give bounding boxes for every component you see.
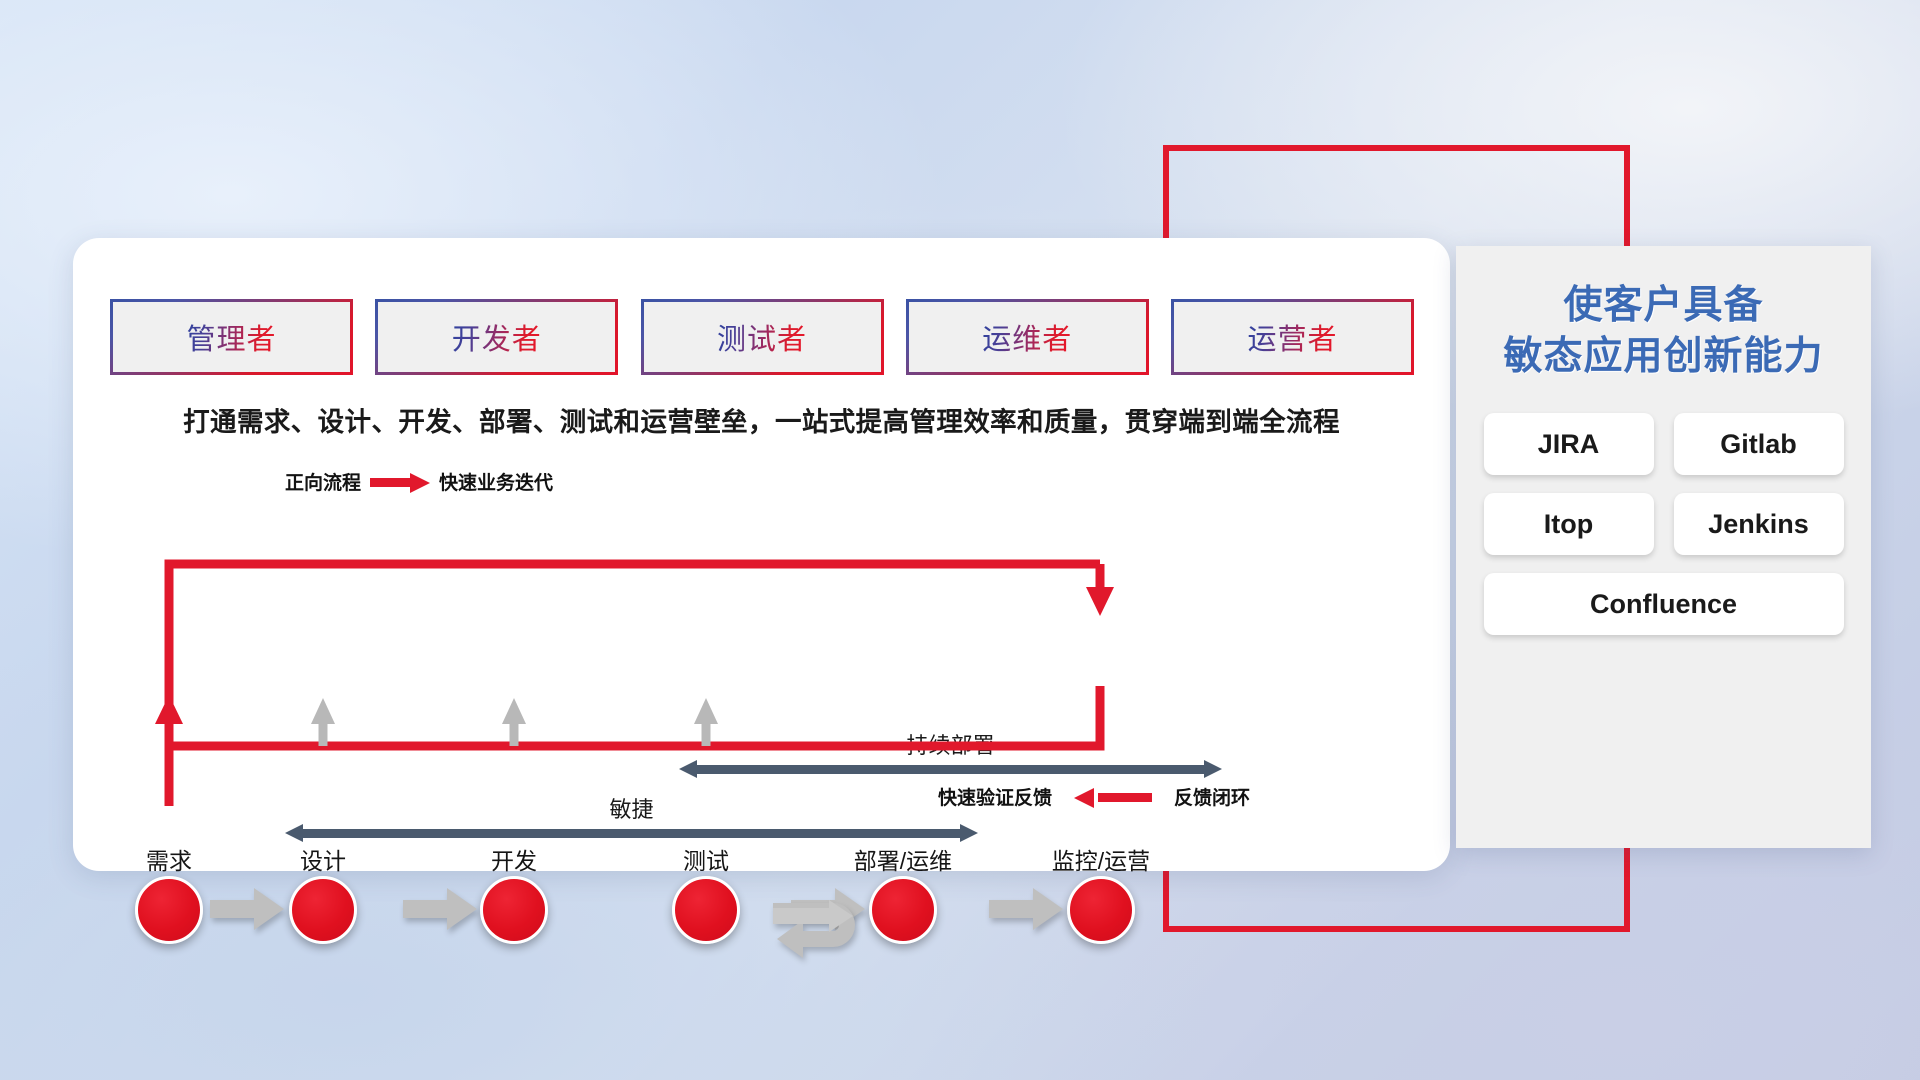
tool-chip-gitlab[interactable]: Gitlab bbox=[1674, 413, 1844, 475]
stage-dot bbox=[1067, 876, 1135, 944]
stage-label: 设计 bbox=[253, 850, 393, 873]
span-label: 敏捷 bbox=[285, 792, 978, 824]
legend-forward-right-label: 快速业务迭代 bbox=[439, 468, 553, 495]
role-label: 运维者 bbox=[982, 316, 1072, 358]
legend-feedback-loop: 快速验证反馈 反馈闭环 bbox=[938, 783, 1250, 810]
panel-title-line2: 敏态应用创新能力 bbox=[1456, 331, 1871, 384]
span-label: 持续部署 bbox=[679, 728, 1222, 760]
stage-dot bbox=[672, 876, 740, 944]
legend-forward-left-label: 正向流程 bbox=[285, 468, 361, 495]
panel-title: 使客户具备 敏态应用创新能力 bbox=[1456, 282, 1871, 383]
roles-row: 管理者 开发者 测试者 运维者 运营者 bbox=[113, 302, 1411, 372]
stage-label: 测试 bbox=[636, 850, 776, 873]
stage-dot bbox=[480, 876, 548, 944]
value-proposition-panel: 使客户具备 敏态应用创新能力 JIRA Gitlab Itop Jenkins … bbox=[1456, 246, 1871, 848]
slide-canvas: 管理者 开发者 测试者 运维者 运营者 打通需求、设计、开发、部署、测试和运营壁… bbox=[0, 0, 1920, 1080]
arrow-head-right-icon bbox=[960, 824, 978, 842]
arrow-head-right-icon bbox=[1204, 760, 1222, 778]
role-box-ops[interactable]: 运维者 bbox=[909, 302, 1146, 372]
legend-forward-flow: 正向流程 快速业务迭代 bbox=[285, 468, 553, 495]
role-label: 开发者 bbox=[452, 316, 542, 358]
iteration-loop-icon bbox=[773, 896, 869, 962]
tool-chip-itop[interactable]: Itop bbox=[1484, 493, 1654, 555]
tool-chip-confluence[interactable]: Confluence bbox=[1484, 573, 1844, 635]
stage-dot bbox=[869, 876, 937, 944]
arrow-shaft bbox=[695, 765, 1206, 774]
role-label: 管理者 bbox=[186, 316, 276, 358]
arrow-right-red-icon bbox=[370, 476, 430, 487]
role-box-developer[interactable]: 开发者 bbox=[378, 302, 615, 372]
stage-testing[interactable]: 测试 bbox=[636, 850, 776, 944]
arrow-shaft bbox=[301, 829, 962, 838]
arrow-head-down-icon bbox=[1086, 587, 1114, 616]
stage-label: 需求 bbox=[99, 850, 239, 873]
legend-feedback-left-label: 快速验证反馈 bbox=[938, 783, 1052, 810]
pipeline-row: 需求 设计 开发 测试 部署/运维 监控/运营 bbox=[73, 850, 1450, 960]
flow-arrow-4-icon bbox=[989, 886, 1063, 932]
arrow-left-red-icon bbox=[1074, 791, 1152, 802]
span-arrow-continuous-deployment: 持续部署 bbox=[679, 760, 1222, 779]
role-label: 运营者 bbox=[1247, 316, 1337, 358]
stage-label: 开发 bbox=[444, 850, 584, 873]
tools-grid: JIRA Gitlab Itop Jenkins Confluence bbox=[1484, 413, 1844, 635]
legend-feedback-right-label: 反馈闭环 bbox=[1174, 783, 1250, 810]
tool-chip-jira[interactable]: JIRA bbox=[1484, 413, 1654, 475]
role-label: 测试者 bbox=[717, 316, 807, 358]
role-box-operator[interactable]: 运营者 bbox=[1174, 302, 1411, 372]
headline-text: 打通需求、设计、开发、部署、测试和运营壁垒，一站式提高管理效率和质量，贯穿端到端… bbox=[73, 400, 1450, 439]
stage-feeder-stems bbox=[311, 698, 718, 746]
flow-arrow-1-icon bbox=[210, 886, 284, 932]
role-box-tester[interactable]: 测试者 bbox=[644, 302, 881, 372]
stage-label: 监控/运营 bbox=[1031, 850, 1171, 873]
stage-label: 部署/运维 bbox=[833, 850, 973, 873]
panel-title-line1: 使客户具备 bbox=[1456, 282, 1871, 331]
devops-overview-card: 管理者 开发者 测试者 运维者 运营者 打通需求、设计、开发、部署、测试和运营壁… bbox=[73, 238, 1450, 871]
arrow-head-up-icon bbox=[155, 695, 183, 724]
tool-chip-jenkins[interactable]: Jenkins bbox=[1674, 493, 1844, 555]
flow-arrow-2-icon bbox=[403, 886, 477, 932]
stage-dot bbox=[135, 876, 203, 944]
stage-dot bbox=[289, 876, 357, 944]
role-box-manager[interactable]: 管理者 bbox=[113, 302, 350, 372]
span-arrow-agile: 敏捷 bbox=[285, 824, 978, 843]
